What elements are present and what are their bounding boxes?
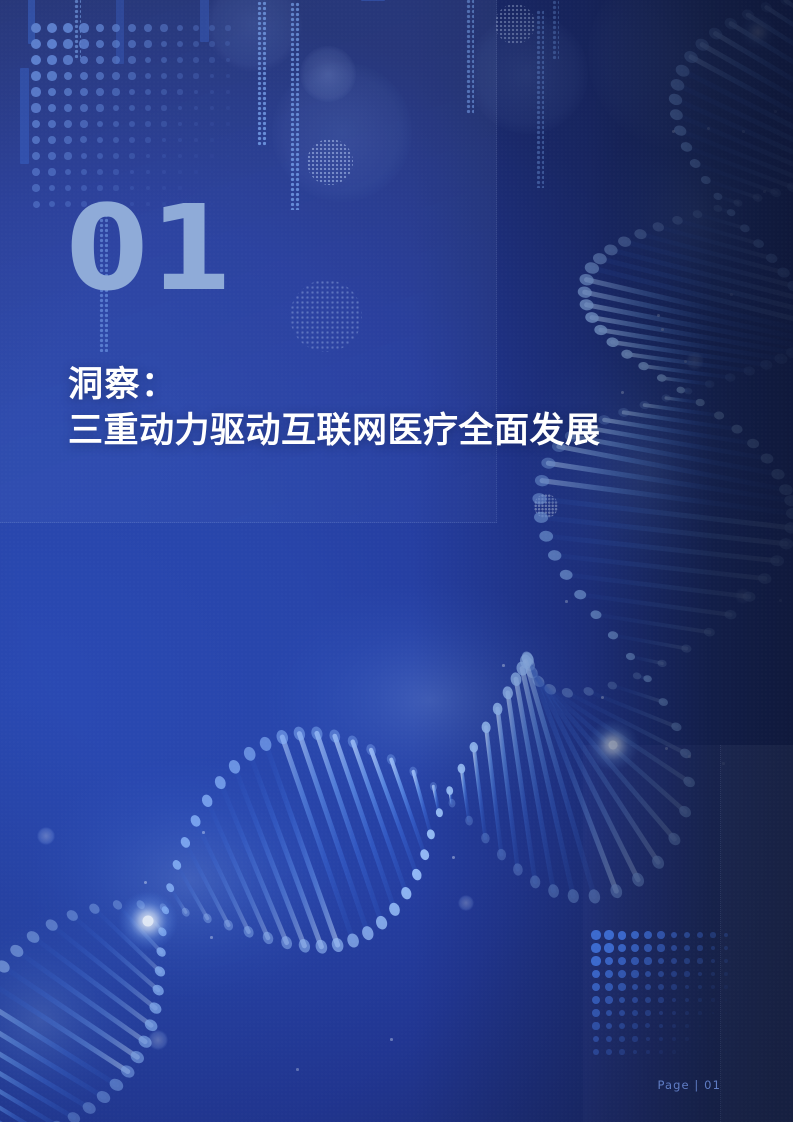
section-title-block: 洞察： 三重动力驱动互联网医疗全面发展	[68, 362, 768, 454]
section-cover-page: 01 洞察： 三重动力驱动互联网医疗全面发展 Page | 01	[0, 0, 793, 1122]
section-title-line-2: 三重动力驱动互联网医疗全面发展	[68, 408, 768, 454]
section-title-line-1: 洞察：	[68, 362, 768, 408]
section-number: 01	[66, 189, 234, 307]
page-number-footer: Page | 01	[657, 1078, 721, 1092]
cover-content: 01 洞察： 三重动力驱动互联网医疗全面发展 Page | 01	[0, 0, 793, 1122]
